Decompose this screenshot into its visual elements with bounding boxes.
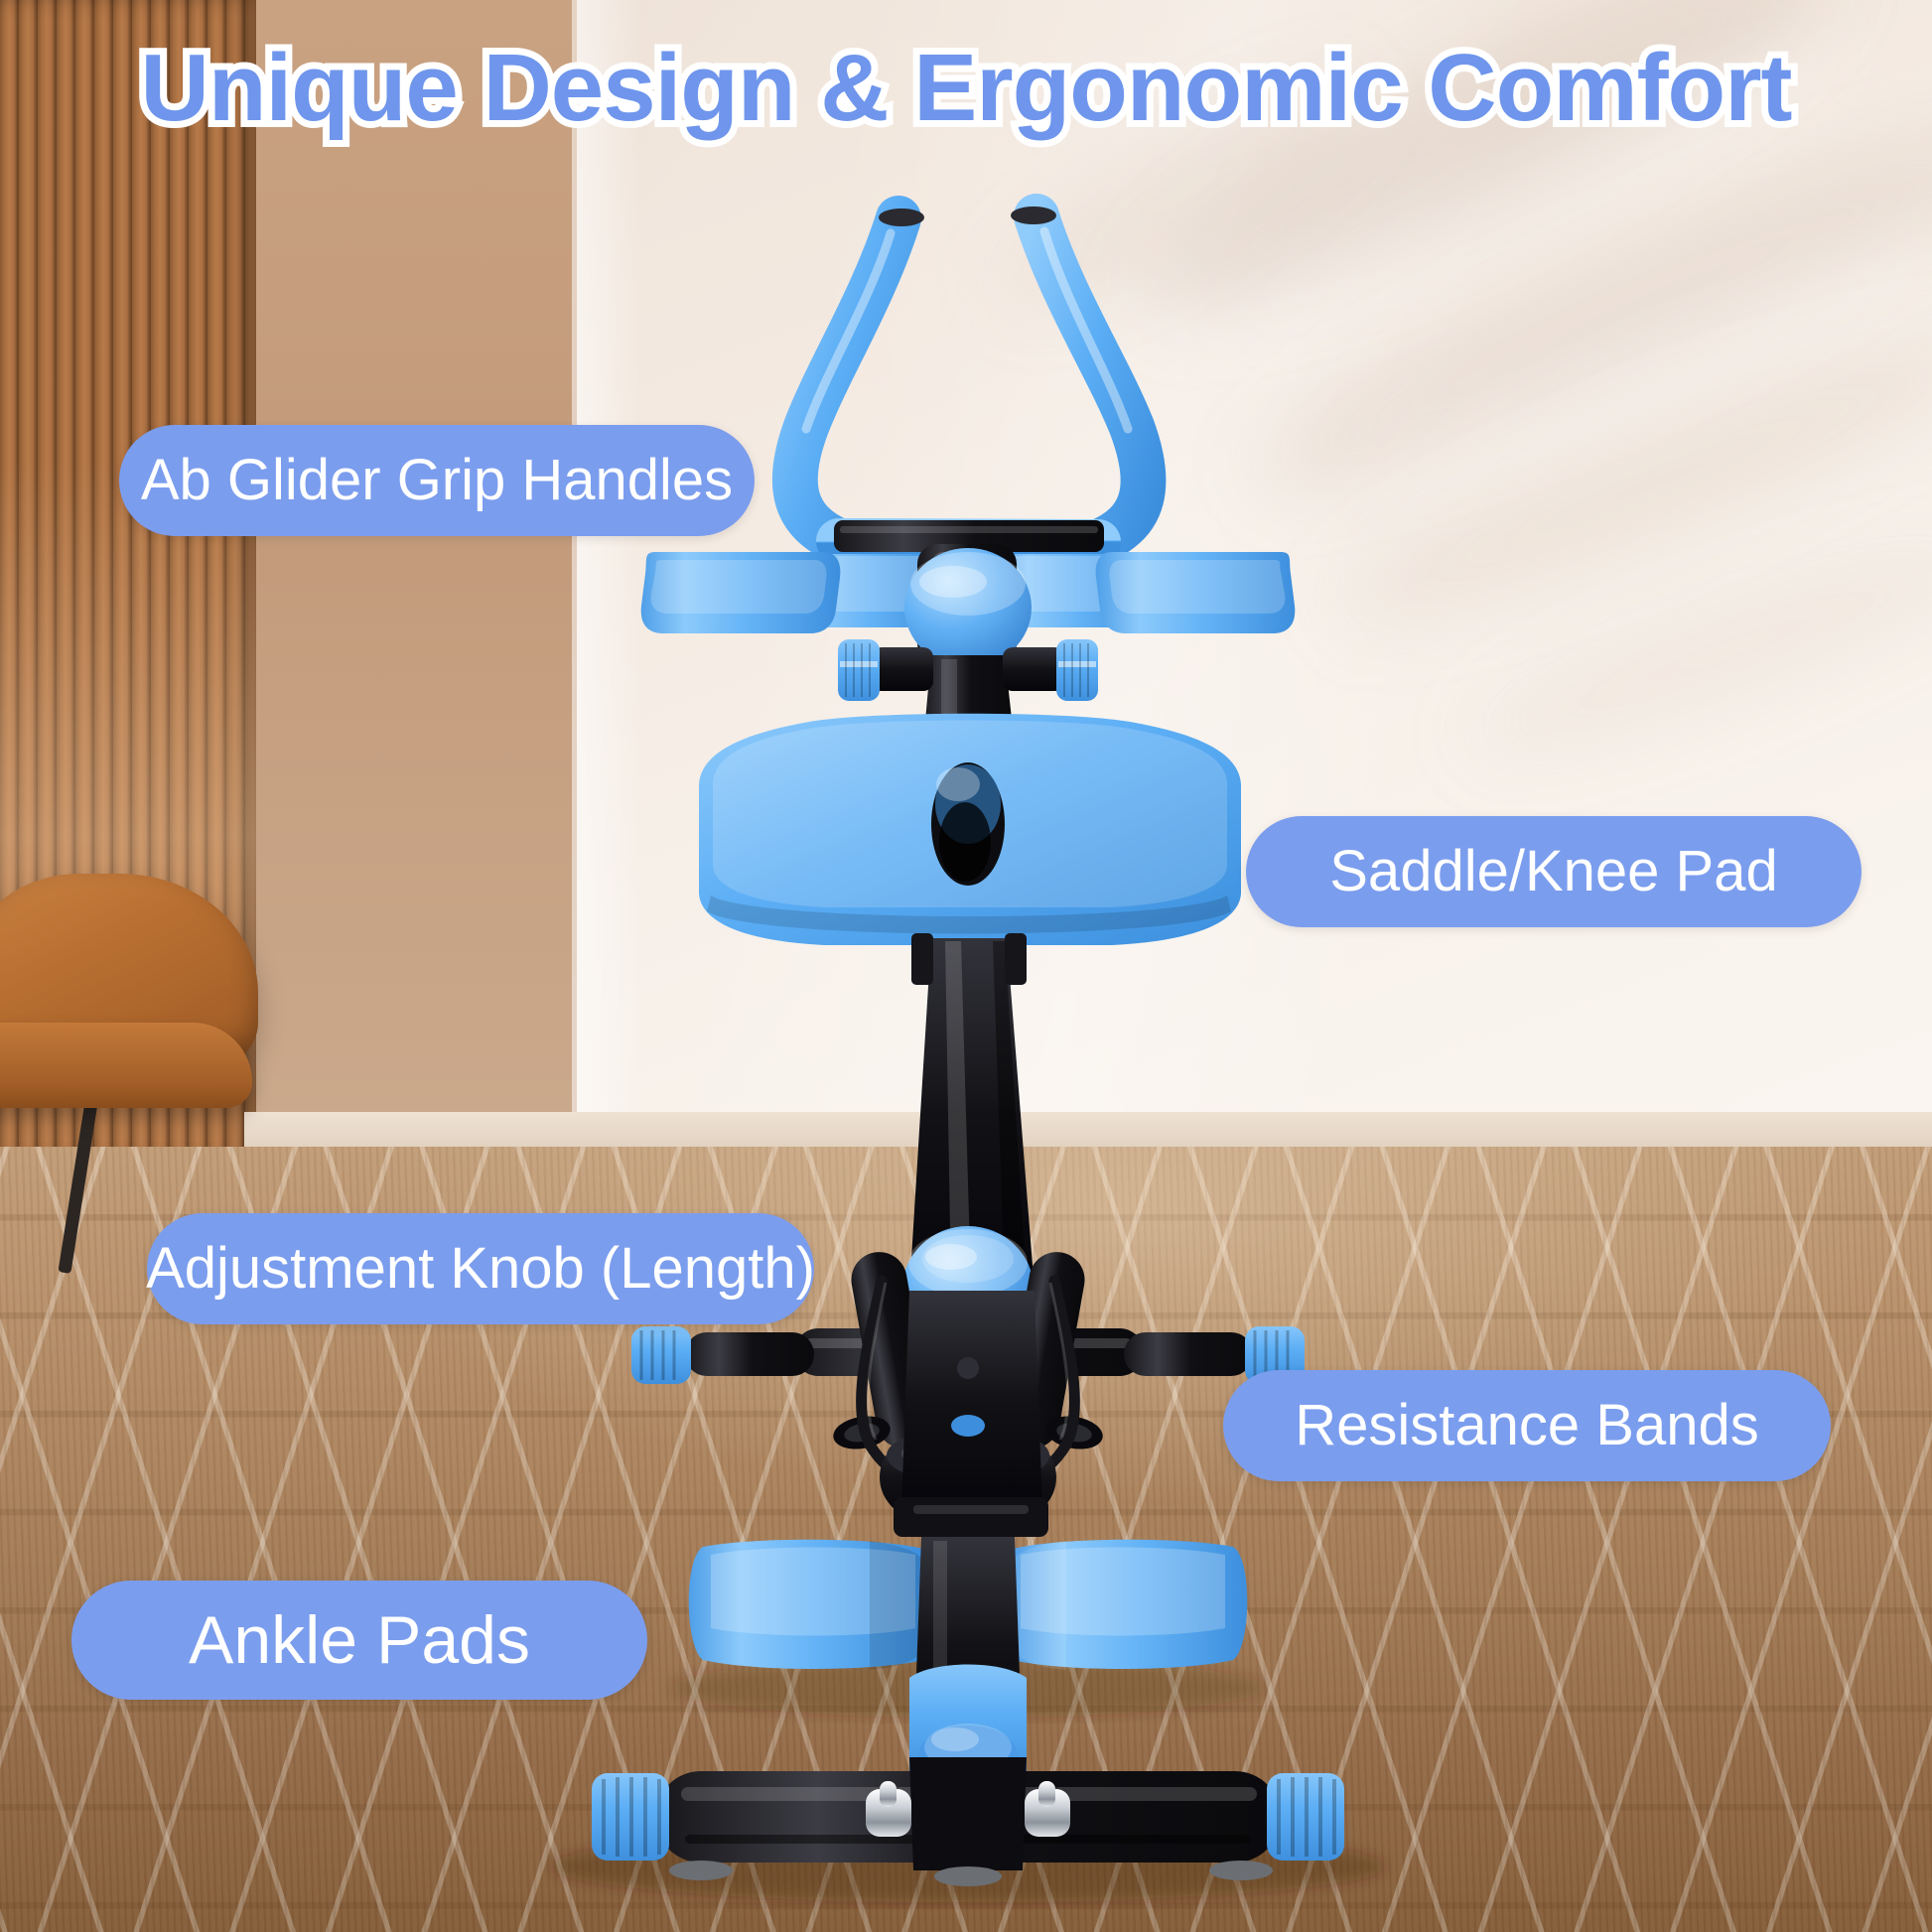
callout-resistance-bands[interactable]: Resistance Bands: [1223, 1370, 1831, 1481]
callout-adjustment-knob-length[interactable]: Adjustment Knob (Length): [147, 1213, 814, 1324]
wall-tan-panel: [244, 0, 577, 1152]
leather-chair: [0, 874, 288, 1231]
page-title: Unique Design & Ergonomic Comfort: [0, 34, 1932, 143]
chair-cushion: [0, 1023, 252, 1108]
callout-saddle-knee-pad[interactable]: Saddle/Knee Pad: [1246, 816, 1862, 927]
infographic-canvas: Unique Design & Ergonomic Comfort Ab Gli…: [0, 0, 1932, 1932]
callout-ankle-pads[interactable]: Ankle Pads: [71, 1581, 647, 1700]
wall-tan-panel-edge: [572, 0, 641, 1152]
callout-ab-glider-grip-handles[interactable]: Ab Glider Grip Handles: [119, 425, 755, 536]
